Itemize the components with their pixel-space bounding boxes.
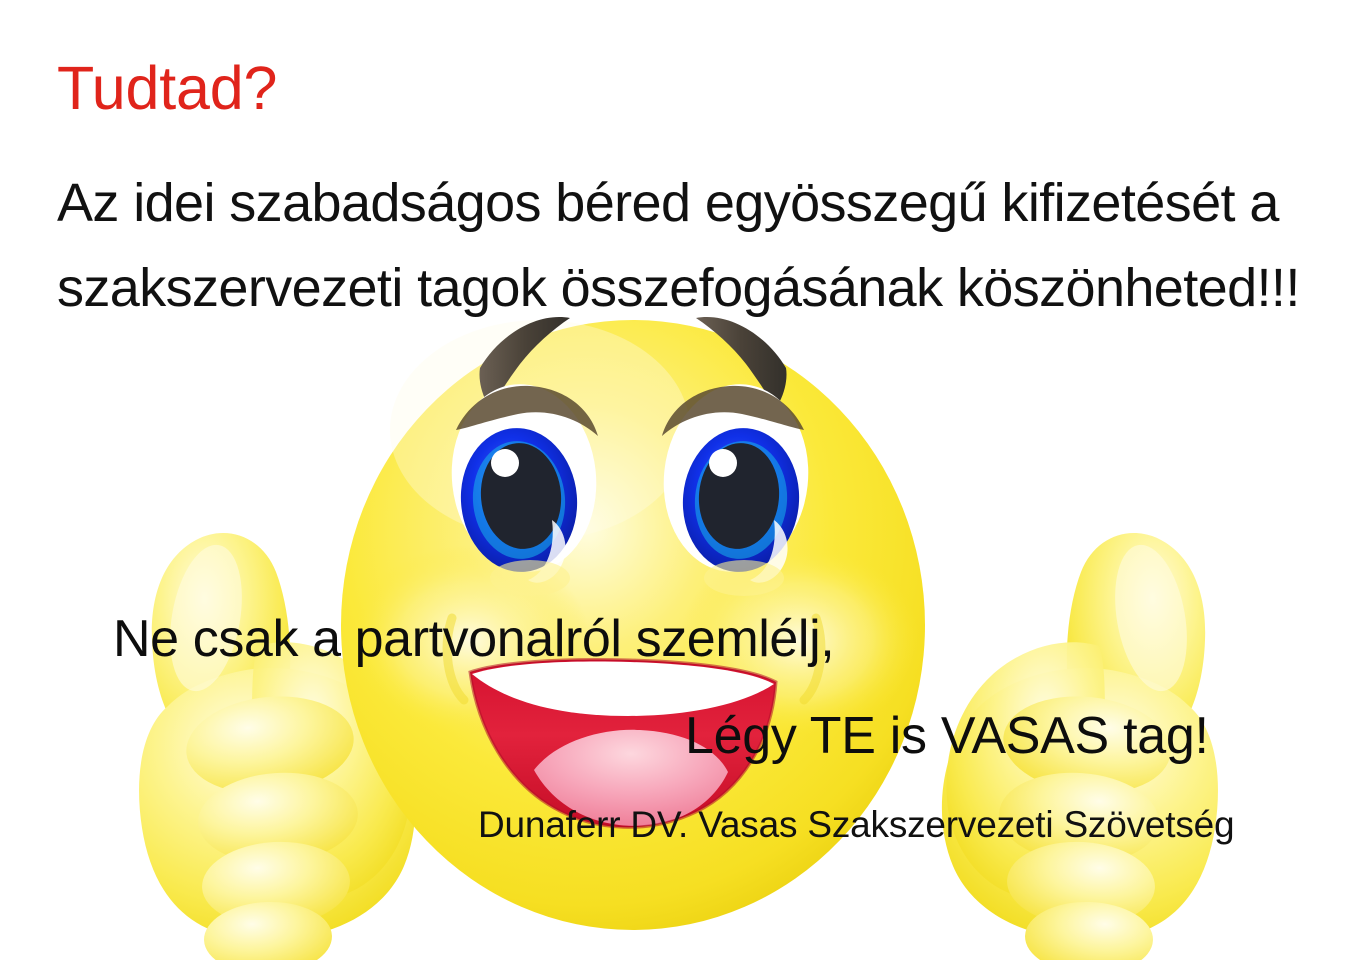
slide-canvas: Tudtad? Az idei szabadságos béred egyöss… (0, 0, 1357, 960)
middle-message: Ne csak a partvonalról szemlélj, (113, 613, 834, 665)
page-title: Tudtad? (57, 58, 277, 119)
body-text-line-2: szakszervezeti tagok összefogásának kösz… (57, 261, 1300, 315)
body-text-line-1: Az idei szabadságos béred egyösszegű kif… (57, 176, 1279, 230)
organization-signature: Dunaferr DV. Vasas Szakszervezeti Szövet… (478, 806, 1234, 843)
text-layer: Tudtad? Az idei szabadságos béred egyöss… (0, 0, 1357, 960)
call-to-action-text: Légy TE is VASAS tag! (685, 710, 1209, 762)
